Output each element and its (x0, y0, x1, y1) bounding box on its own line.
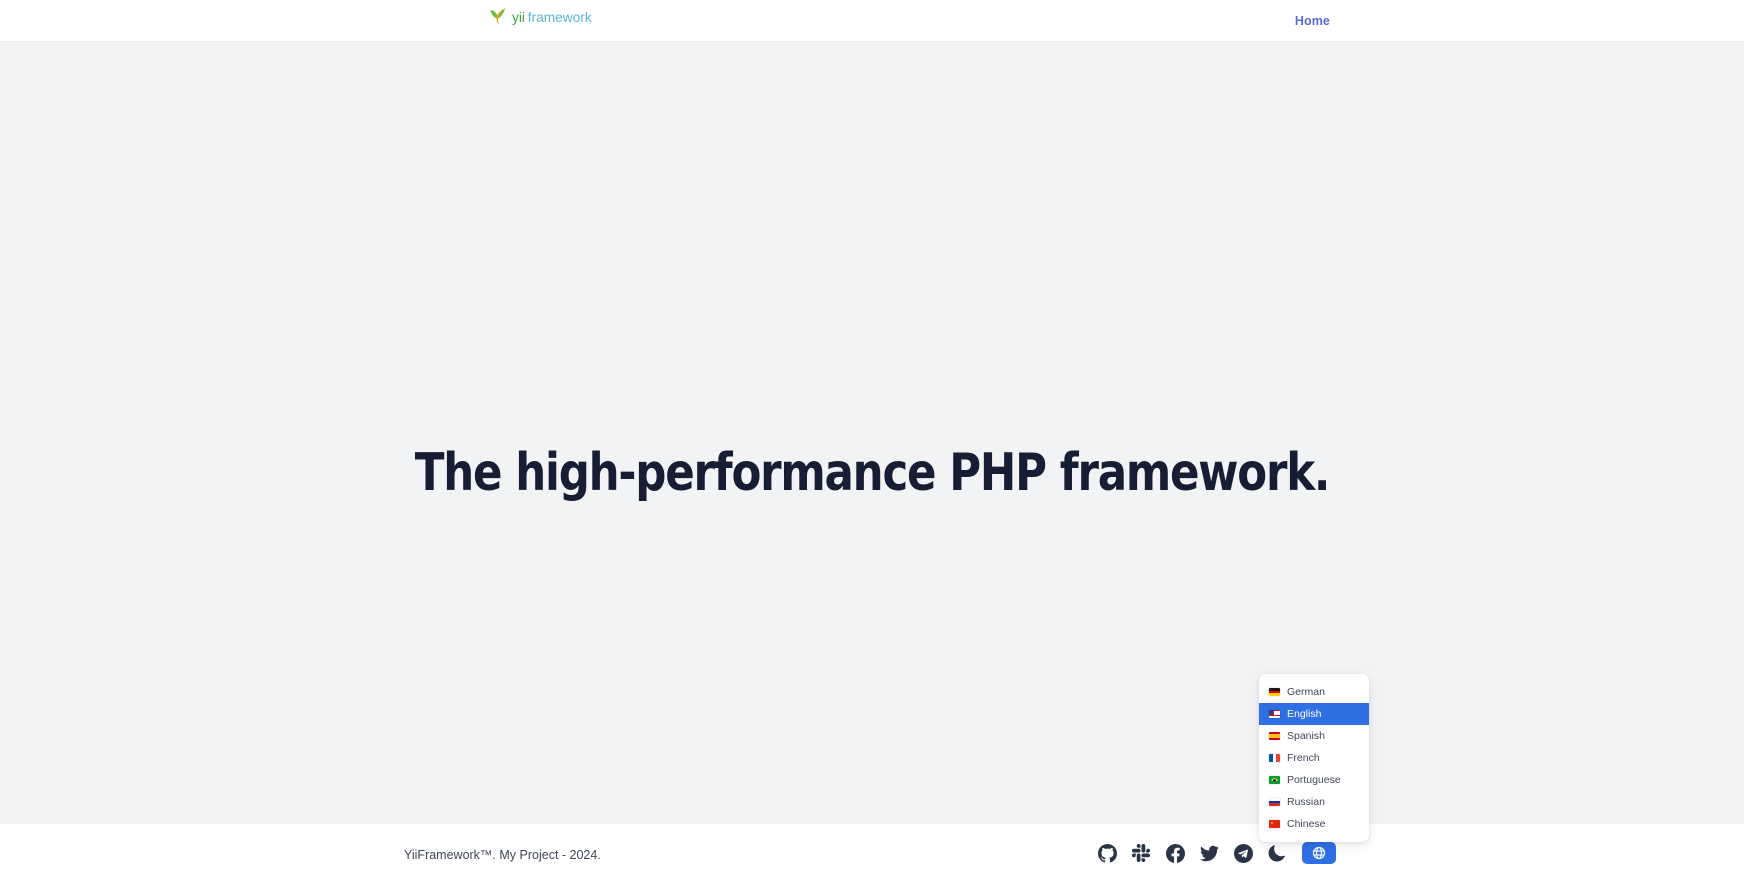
svg-text:yii: yii (512, 10, 525, 25)
flag-france-icon (1269, 754, 1280, 762)
flag-germany-icon (1269, 688, 1280, 696)
language-option-chinese[interactable]: Chinese (1259, 813, 1369, 835)
language-option-label: Russian (1287, 791, 1325, 813)
language-dropdown-menu[interactable]: GermanEnglishSpanishFrenchPortugueseRuss… (1259, 674, 1369, 842)
hero-title: The high-performance PHP framework. (61, 446, 1683, 501)
nav-item-home[interactable]: Home (1289, 10, 1336, 32)
yii-bird-mark-icon (489, 7, 507, 27)
brand-logo-link[interactable]: yii framework (489, 7, 640, 27)
flag-spain-icon (1269, 732, 1280, 740)
language-option-label: German (1287, 681, 1325, 703)
flag-china-icon (1269, 820, 1280, 828)
site-footer: YiiFramework™. My Project - 2024. (0, 824, 1744, 892)
svg-text:framework: framework (528, 10, 592, 25)
github-icon[interactable] (1096, 842, 1118, 864)
language-option-label: Portuguese (1287, 769, 1341, 791)
facebook-icon[interactable] (1164, 842, 1186, 864)
yii-framework-wordmark: yii framework (512, 9, 640, 26)
language-option-english[interactable]: English (1259, 703, 1369, 725)
language-option-label: Spanish (1287, 725, 1325, 747)
language-toggle-button[interactable] (1302, 842, 1336, 864)
flag-brazil-icon (1269, 776, 1280, 784)
language-option-label: English (1287, 703, 1321, 725)
language-option-russian[interactable]: Russian (1259, 791, 1369, 813)
flag-usa-icon (1269, 710, 1280, 718)
page-main: The high-performance PHP framework. (0, 42, 1744, 824)
language-option-label: French (1287, 747, 1320, 769)
telegram-icon[interactable] (1232, 842, 1254, 864)
language-option-german[interactable]: German (1259, 681, 1369, 703)
twitter-icon[interactable] (1198, 842, 1220, 864)
moon-icon[interactable] (1266, 842, 1288, 864)
language-option-french[interactable]: French (1259, 747, 1369, 769)
language-option-spanish[interactable]: Spanish (1259, 725, 1369, 747)
footer-inner: YiiFramework™. My Project - 2024. (0, 824, 1744, 892)
flag-russia-icon (1269, 798, 1280, 806)
header-inner: yii framework Home (0, 0, 1744, 41)
language-option-label: Chinese (1287, 813, 1326, 835)
globe-icon (1312, 846, 1326, 860)
language-option-portuguese[interactable]: Portuguese (1259, 769, 1369, 791)
site-header: yii framework Home (0, 0, 1744, 42)
slack-icon[interactable] (1130, 842, 1152, 864)
footer-social-links (1096, 842, 1336, 864)
main-navigation: Home (1289, 0, 1744, 41)
footer-copyright: YiiFramework™. My Project - 2024. (404, 848, 601, 862)
